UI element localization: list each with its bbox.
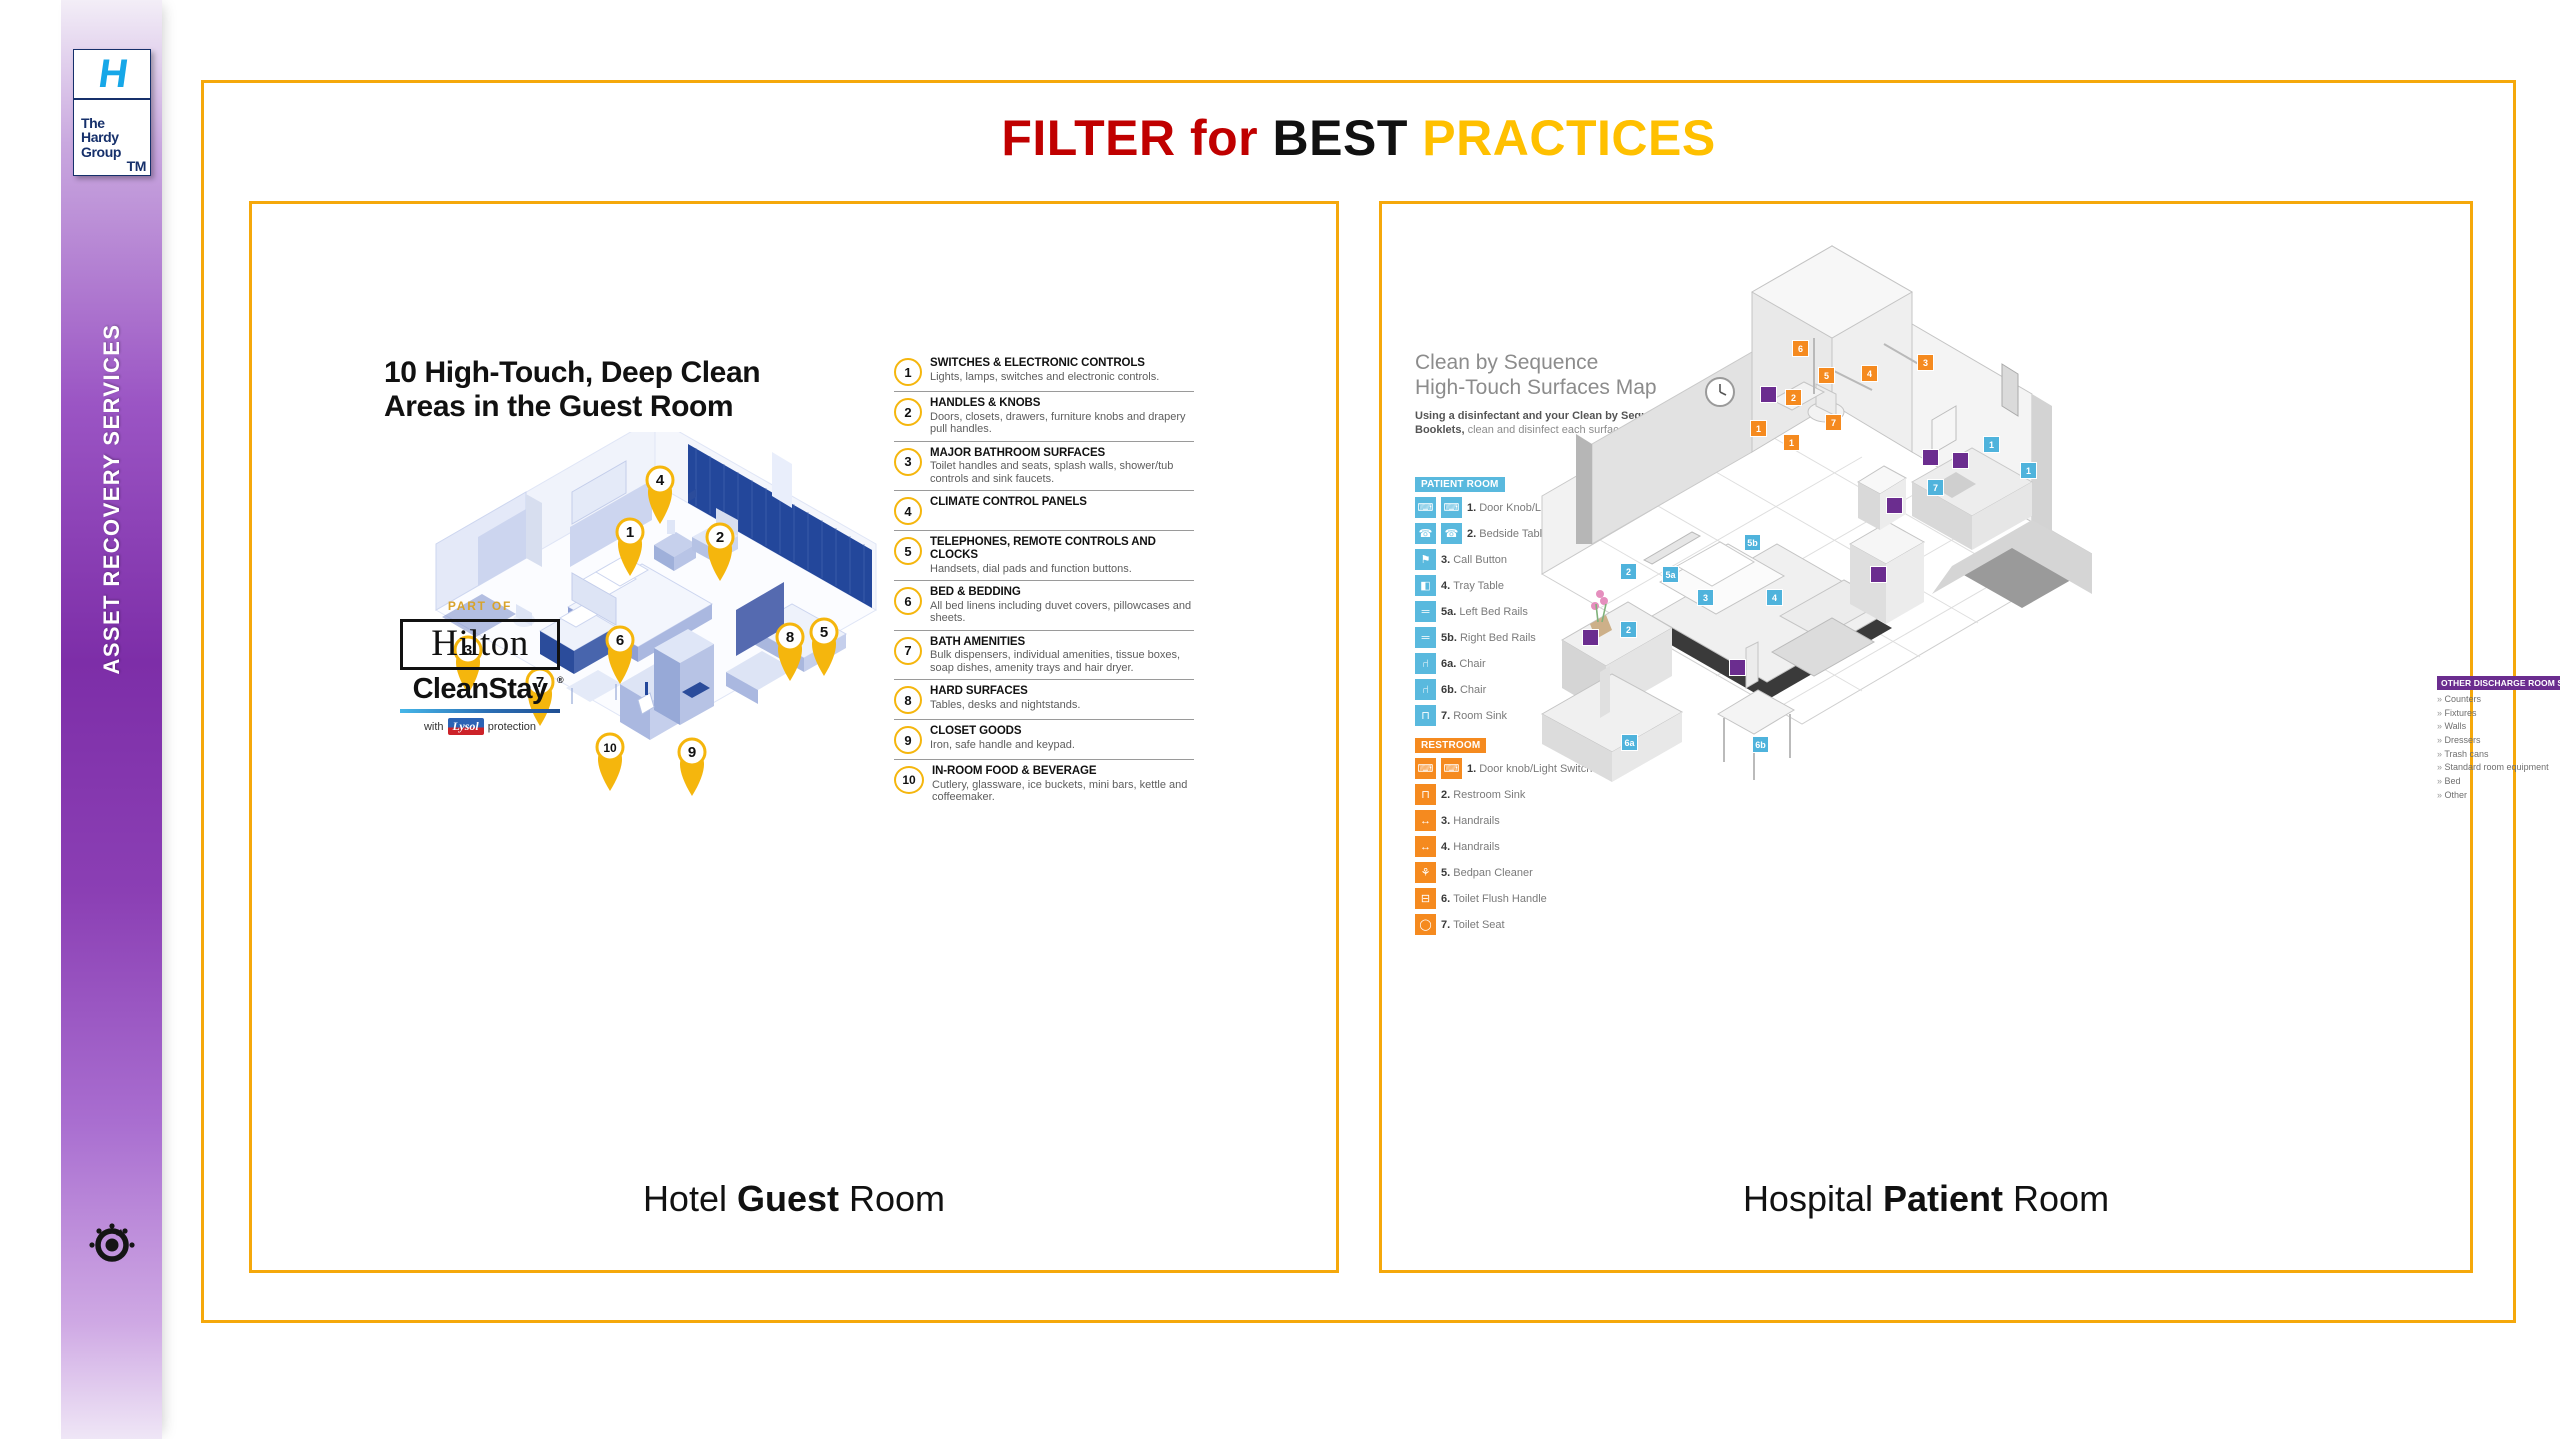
svg-text:9: 9 xyxy=(688,744,696,761)
hardy-group-logo: H The Hardy Group TM xyxy=(73,49,151,176)
caption-prefix: Hotel xyxy=(643,1178,737,1219)
logo-h-mark: H xyxy=(74,50,150,100)
surface-icon: ⚘ xyxy=(1415,862,1436,883)
room-pin-6[interactable]: 6 xyxy=(607,627,633,684)
legend-item-6: 6BED & BEDDINGAll bed linens including d… xyxy=(894,580,1194,630)
brand-sidebar: H The Hardy Group TM ASSET RECOVERY SERV… xyxy=(61,0,162,1439)
logo-line-1: The xyxy=(81,116,150,130)
legend-title: HARD SURFACES xyxy=(930,685,1194,698)
legend-description: Lights, lamps, switches and electronic c… xyxy=(930,371,1194,383)
surface-icon: ⌨ xyxy=(1441,497,1462,518)
svg-text:1: 1 xyxy=(626,524,634,541)
legend-number-badge: 6 xyxy=(894,587,922,615)
cleanstay-wordmark: CleanStay® xyxy=(400,673,560,706)
panel-caption-hospital: Hospital Patient Room xyxy=(1382,1178,2470,1220)
room-marker-7[interactable]: 7 xyxy=(1927,479,1944,496)
hospital-legend-label: 5a. Left Bed Rails xyxy=(1441,606,1528,618)
surface-icon: ═ xyxy=(1415,627,1436,648)
legend-title: BED & BEDDING xyxy=(930,586,1194,599)
svg-text:4: 4 xyxy=(656,472,665,489)
other-surfaces-title: OTHER DISCHARGE ROOM SURFACES xyxy=(2437,676,2560,690)
hilton-wordmark: Hilton xyxy=(400,619,560,670)
legend-number-badge: 7 xyxy=(894,637,922,665)
hospital-legend-label: 2. Restroom Sink xyxy=(1441,789,1525,801)
lysol-prefix: with xyxy=(424,721,444,733)
room-marker-discharge[interactable] xyxy=(1952,452,1969,469)
room-marker-5b[interactable]: 5b xyxy=(1744,534,1761,551)
room-pin-8[interactable]: 8 xyxy=(777,624,803,681)
legend-body: CLOSET GOODSIron, safe handle and keypad… xyxy=(930,725,1194,754)
surface-icon: ◯ xyxy=(1415,914,1436,935)
room-marker-1[interactable]: 1 xyxy=(1983,436,2000,453)
legend-body: IN-ROOM FOOD & BEVERAGECutlery, glasswar… xyxy=(932,765,1194,804)
hospital-legend-label: 5b. Right Bed Rails xyxy=(1441,632,1536,644)
other-surface-item: Other xyxy=(2437,789,2560,803)
surface-icon: ⑁ xyxy=(1415,653,1436,674)
caption-bold: Patient xyxy=(1883,1178,2003,1219)
legend-description: Bulk dispensers, individual amenities, t… xyxy=(930,649,1194,674)
legend-title: CLOSET GOODS xyxy=(930,725,1194,738)
legend-body: BATH AMENITIESBulk dispensers, individua… xyxy=(930,636,1194,675)
trademark-symbol: TM xyxy=(127,159,146,173)
legend-body: MAJOR BATHROOM SURFACESToilet handles an… xyxy=(930,447,1194,486)
legend-number-badge: 5 xyxy=(894,537,922,565)
svg-text:10: 10 xyxy=(603,741,617,755)
cleanstay-rule xyxy=(400,709,560,713)
surface-icon: ⊟ xyxy=(1415,888,1436,909)
legend-title: BATH AMENITIES xyxy=(930,636,1194,649)
hospital-legend-label: 3. Call Button xyxy=(1441,554,1507,566)
legend-number-badge: 9 xyxy=(894,726,922,754)
surface-icon: ☎ xyxy=(1415,523,1436,544)
lysol-logo: Lysol xyxy=(448,718,484,735)
surface-icon: ═ xyxy=(1415,601,1436,622)
hospital-legend-label: 7. Room Sink xyxy=(1441,710,1507,722)
lysol-suffix: protection xyxy=(488,721,536,733)
hotel-legend-list: 1SWITCHES & ELECTRONIC CONTROLSLights, l… xyxy=(894,352,1194,809)
logo-line-2: Hardy xyxy=(81,130,150,144)
room-marker-discharge[interactable] xyxy=(1760,386,1777,403)
legend-number-badge: 4 xyxy=(894,497,922,525)
room-marker-5[interactable]: 5 xyxy=(1818,367,1835,384)
room-marker-3[interactable]: 3 xyxy=(1697,589,1714,606)
other-surface-item: Walls xyxy=(2437,720,2560,734)
legend-description: Iron, safe handle and keypad. xyxy=(930,739,1194,751)
svg-text:2: 2 xyxy=(716,529,724,546)
other-surface-item: Fixtures xyxy=(2437,707,2560,721)
legend-description: Cutlery, glassware, ice buckets, mini ba… xyxy=(932,779,1194,804)
legend-description: Tables, desks and nightstands. xyxy=(930,699,1194,711)
room-marker-7[interactable]: 7 xyxy=(1825,414,1842,431)
legend-body: HARD SURFACESTables, desks and nightstan… xyxy=(930,685,1194,714)
registered-mark: ® xyxy=(557,675,563,685)
legend-title: HANDLES & KNOBS xyxy=(930,397,1194,410)
hilton-cleanstay-logo: PART OF Hilton CleanStay® with Lysol pro… xyxy=(400,599,560,735)
legend-description: Toilet handles and seats, splash walls, … xyxy=(930,460,1194,485)
other-surface-item: Bed xyxy=(2437,775,2560,789)
legend-number-badge: 2 xyxy=(894,398,922,426)
room-marker-discharge[interactable] xyxy=(1870,566,1887,583)
other-surface-item: Dressers xyxy=(2437,734,2560,748)
hospital-legend-row: ⚘5. Bedpan Cleaner xyxy=(1415,862,1745,883)
legend-item-2: 2HANDLES & KNOBSDoors, closets, drawers,… xyxy=(894,391,1194,441)
legend-title: IN-ROOM FOOD & BEVERAGE xyxy=(932,765,1194,778)
room-marker-1[interactable]: 1 xyxy=(2020,462,2037,479)
page-title: FILTER for BEST PRACTICES xyxy=(204,109,2513,167)
hospital-legend-label: 4. Tray Table xyxy=(1441,580,1504,592)
hospital-room-illustration: 635421171175b5a23426a6b xyxy=(1532,244,2092,809)
caption-suffix: Room xyxy=(839,1178,945,1219)
hospital-legend-label: 4. Handrails xyxy=(1441,841,1500,853)
legend-title: SWITCHES & ELECTRONIC CONTROLS xyxy=(930,357,1194,370)
surface-icon: ↔ xyxy=(1415,810,1436,831)
title-part-practices: PRACTICES xyxy=(1422,110,1715,166)
legend-item-5: 5TELEPHONES, REMOTE CONTROLS AND CLOCKSH… xyxy=(894,530,1194,580)
hilton-heading: 10 High-Touch, Deep Clean Areas in the G… xyxy=(384,356,804,424)
hospital-legend-row: ⊟6. Toilet Flush Handle xyxy=(1415,888,1745,909)
room-pin-2[interactable]: 2 xyxy=(707,524,733,581)
legend-body: HANDLES & KNOBSDoors, closets, drawers, … xyxy=(930,397,1194,436)
room-marker-6b[interactable]: 6b xyxy=(1752,736,1769,753)
legend-number-badge: 1 xyxy=(894,358,922,386)
legend-item-3: 3MAJOR BATHROOM SURFACESToilet handles a… xyxy=(894,441,1194,491)
restroom-tag: RESTROOM xyxy=(1415,738,1486,753)
legend-item-7: 7BATH AMENITIESBulk dispensers, individu… xyxy=(894,630,1194,680)
other-surface-item: Counters xyxy=(2437,693,2560,707)
legend-body: BED & BEDDINGAll bed linens including du… xyxy=(930,586,1194,625)
room-marker-2[interactable]: 2 xyxy=(1620,621,1637,638)
hospital-legend-row: ◯7. Toilet Seat xyxy=(1415,914,1745,935)
legend-item-8: 8HARD SURFACESTables, desks and nightsta… xyxy=(894,679,1194,719)
logo-line-3: Group xyxy=(81,145,150,159)
caption-suffix: Room xyxy=(2003,1178,2109,1219)
legend-description: All bed linens including duvet covers, p… xyxy=(930,600,1194,625)
surface-icon: ⑁ xyxy=(1415,679,1436,700)
room-marker-2[interactable]: 2 xyxy=(1620,563,1637,580)
room-pin-9[interactable]: 9 xyxy=(679,739,705,796)
other-discharge-surfaces-box: OTHER DISCHARGE ROOM SURFACES CountersFi… xyxy=(2437,676,2560,802)
legend-body: SWITCHES & ELECTRONIC CONTROLSLights, la… xyxy=(930,357,1194,386)
legend-item-9: 9CLOSET GOODSIron, safe handle and keypa… xyxy=(894,719,1194,759)
legend-item-1: 1SWITCHES & ELECTRONIC CONTROLSLights, l… xyxy=(894,352,1194,391)
room-marker-6[interactable]: 6 xyxy=(1792,340,1809,357)
room-marker-6a[interactable]: 6a xyxy=(1621,734,1638,751)
room-pin-4[interactable]: 4 xyxy=(647,467,673,524)
room-marker-1[interactable]: 1 xyxy=(1783,434,1800,451)
room-marker-1[interactable]: 1 xyxy=(1750,420,1767,437)
logo-wordmark: The Hardy Group TM xyxy=(74,100,150,175)
other-surface-item: Trash cans xyxy=(2437,748,2560,762)
room-marker-2[interactable]: 2 xyxy=(1785,389,1802,406)
hospital-legend-label: 7. Toilet Seat xyxy=(1441,919,1505,931)
surface-icon: ◧ xyxy=(1415,575,1436,596)
surface-icon: ⚑ xyxy=(1415,549,1436,570)
legend-body: CLIMATE CONTROL PANELS xyxy=(930,496,1194,525)
surface-icon: ⌨ xyxy=(1415,497,1436,518)
svg-text:5: 5 xyxy=(820,624,828,641)
logo-letter: H xyxy=(96,54,129,94)
hilton-cleanstay-infographic: 10 High-Touch, Deep Clean Areas in the G… xyxy=(252,204,1336,1104)
panel-hospital-patient-room: Clean by Sequence High-Touch Surfaces Ma… xyxy=(1379,201,2473,1273)
hospital-legend-row: ↔3. Handrails xyxy=(1415,810,1745,831)
caption-bold: Guest xyxy=(737,1178,839,1219)
panel-caption-hotel: Hotel Guest Room xyxy=(252,1178,1336,1220)
room-pin-1[interactable]: 1 xyxy=(617,519,643,576)
surface-icon: ↔ xyxy=(1415,836,1436,857)
target-eye-icon xyxy=(85,1216,139,1270)
hospital-legend-label: 6. Toilet Flush Handle xyxy=(1441,893,1547,905)
svg-text:8: 8 xyxy=(786,629,794,646)
legend-number-badge: 8 xyxy=(894,686,922,714)
surface-icon: ☎ xyxy=(1441,523,1462,544)
hospital-legend-label: 6b. Chair xyxy=(1441,684,1486,696)
room-marker-4[interactable]: 4 xyxy=(1861,365,1878,382)
legend-description: Doors, closets, drawers, furniture knobs… xyxy=(930,411,1194,436)
sidebar-vertical-label: ASSET RECOVERY SERVICES xyxy=(99,249,125,749)
hospital-legend-label: 5. Bedpan Cleaner xyxy=(1441,867,1533,879)
legend-description: Handsets, dial pads and function buttons… xyxy=(930,563,1194,575)
legend-item-10: 10IN-ROOM FOOD & BEVERAGECutlery, glassw… xyxy=(894,759,1194,809)
cleanstay-text: CleanStay xyxy=(413,673,548,705)
lysol-endorsement: with Lysol protection xyxy=(400,718,560,735)
slide-frame: FILTER for BEST PRACTICES 10 High-Touch,… xyxy=(201,80,2516,1323)
legend-body: TELEPHONES, REMOTE CONTROLS AND CLOCKSHa… xyxy=(930,536,1194,575)
part-of-label: PART OF xyxy=(400,599,560,613)
room-pin-10[interactable]: 10 xyxy=(597,734,623,791)
panel-hotel-guest-room: 10 High-Touch, Deep Clean Areas in the G… xyxy=(249,201,1339,1273)
other-surfaces-list: CountersFixturesWallsDressersTrash cansS… xyxy=(2437,693,2560,802)
hospital-legend-row: ↔4. Handrails xyxy=(1415,836,1745,857)
hospital-legend-label: 6a. Chair xyxy=(1441,658,1486,670)
patient-room-tag: PATIENT ROOM xyxy=(1415,477,1505,492)
hospital-legend-label: 3. Handrails xyxy=(1441,815,1500,827)
room-marker-discharge[interactable] xyxy=(1582,629,1599,646)
title-part-best: BEST xyxy=(1273,110,1423,166)
legend-number-badge: 3 xyxy=(894,448,922,476)
room-marker-discharge[interactable] xyxy=(1922,449,1939,466)
legend-title: TELEPHONES, REMOTE CONTROLS AND CLOCKS xyxy=(930,536,1194,562)
room-pin-5[interactable]: 5 xyxy=(811,619,837,676)
room-marker-5a[interactable]: 5a xyxy=(1662,566,1679,583)
other-surface-item: Standard room equipment xyxy=(2437,761,2560,775)
caption-prefix: Hospital xyxy=(1743,1178,1883,1219)
legend-item-4: 4CLIMATE CONTROL PANELS xyxy=(894,490,1194,530)
surface-icon: ⌨ xyxy=(1415,758,1436,779)
room-marker-discharge[interactable] xyxy=(1886,497,1903,514)
legend-title: CLIMATE CONTROL PANELS xyxy=(930,496,1194,509)
room-marker-discharge[interactable] xyxy=(1729,659,1746,676)
surface-icon: ⌨ xyxy=(1441,758,1462,779)
title-part-filter: FILTER for xyxy=(1001,110,1272,166)
legend-number-badge: 10 xyxy=(894,766,924,794)
legend-title: MAJOR BATHROOM SURFACES xyxy=(930,447,1194,460)
surface-icon: ⊓ xyxy=(1415,784,1436,805)
room-marker-4[interactable]: 4 xyxy=(1766,589,1783,606)
surface-icon: ⊓ xyxy=(1415,705,1436,726)
room-marker-3[interactable]: 3 xyxy=(1917,354,1934,371)
svg-text:6: 6 xyxy=(616,632,624,649)
